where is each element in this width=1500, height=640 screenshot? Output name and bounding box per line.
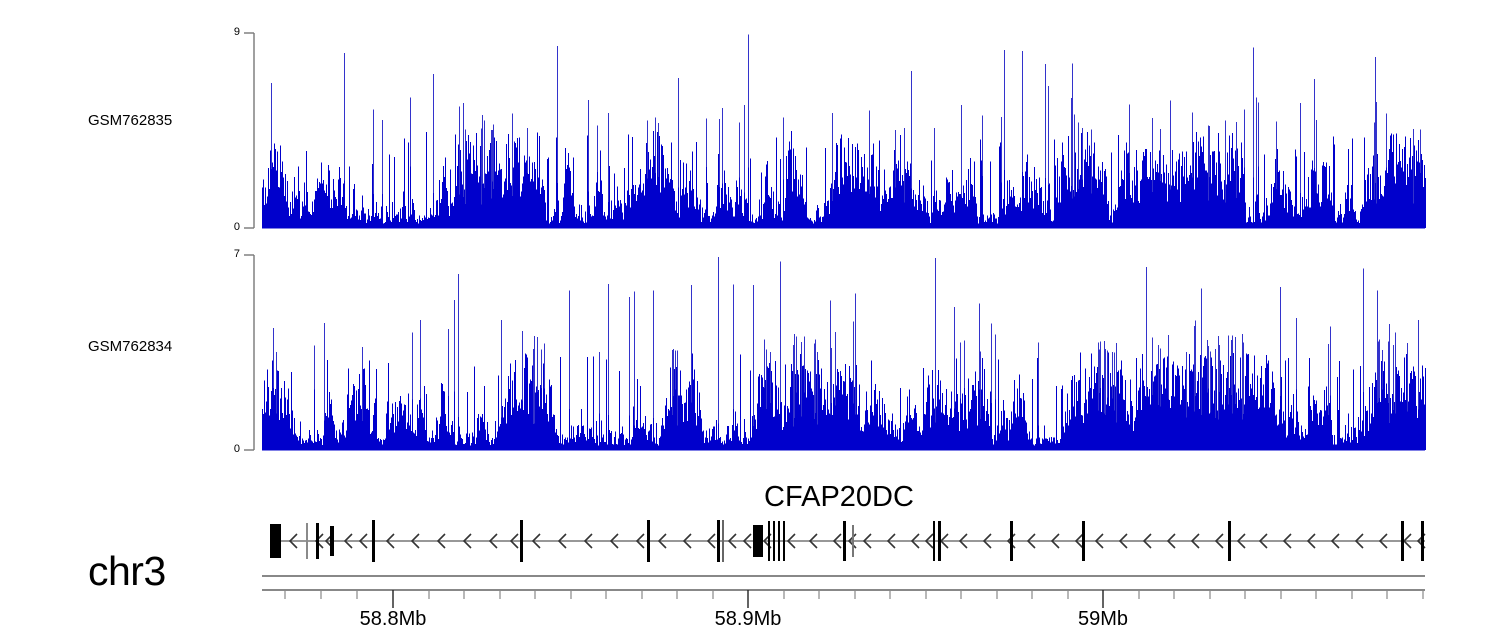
gene-exon[interactable] <box>647 520 650 562</box>
track-label-gsm762834: GSM762834 <box>88 338 172 355</box>
ruler-tick-label-0: 58.8Mb <box>360 608 427 631</box>
gene-exon[interactable] <box>773 521 775 561</box>
gene-exon[interactable] <box>778 521 780 561</box>
gene-exon[interactable] <box>768 521 770 561</box>
ruler-tick-label-1: 58.9Mb <box>715 608 782 631</box>
gene-exon[interactable] <box>1010 521 1013 561</box>
gene-exon[interactable] <box>717 520 720 562</box>
gene-cds-block[interactable] <box>270 524 281 558</box>
coverage-track-gsm762835[interactable] <box>244 33 1426 228</box>
genome-browser-view: GSM762835 GSM762834 chr3 CFAP20DC 9 0 7 … <box>0 0 1500 640</box>
track-axis-max-gsm762835: 9 <box>216 26 240 38</box>
gene-exon[interactable] <box>306 523 308 559</box>
gene-exon[interactable] <box>933 521 935 561</box>
coverage-track-gsm762834[interactable] <box>244 255 1426 450</box>
gene-exon[interactable] <box>1228 521 1231 561</box>
gene-exon[interactable] <box>1401 521 1404 561</box>
gene-exon[interactable] <box>938 521 941 561</box>
coordinate-ruler[interactable] <box>262 576 1425 608</box>
track-label-gsm762835: GSM762835 <box>88 112 172 129</box>
track-axis-min-gsm762835: 0 <box>216 221 240 233</box>
gene-exon[interactable] <box>330 526 334 556</box>
gene-exon[interactable] <box>372 520 375 562</box>
gene-exon[interactable] <box>520 520 523 562</box>
browser-canvas <box>0 0 1500 640</box>
gene-exon[interactable] <box>316 523 319 559</box>
gene-exon[interactable] <box>1421 521 1424 561</box>
gene-exon[interactable] <box>1082 521 1085 561</box>
track-axis-min-gsm762834: 0 <box>216 443 240 455</box>
gene-exon[interactable] <box>852 525 854 557</box>
gene-exon[interactable] <box>783 521 785 561</box>
gene-exon[interactable] <box>722 520 724 562</box>
gene-exon[interactable] <box>843 521 846 561</box>
track-axis-max-gsm762834: 7 <box>216 248 240 260</box>
chromosome-label: chr3 <box>88 548 166 595</box>
gene-name-label: CFAP20DC <box>764 481 914 514</box>
ruler-tick-label-2: 59Mb <box>1078 608 1128 631</box>
gene-cds-block[interactable] <box>753 525 763 557</box>
gene-annotation-track[interactable] <box>270 520 1425 562</box>
